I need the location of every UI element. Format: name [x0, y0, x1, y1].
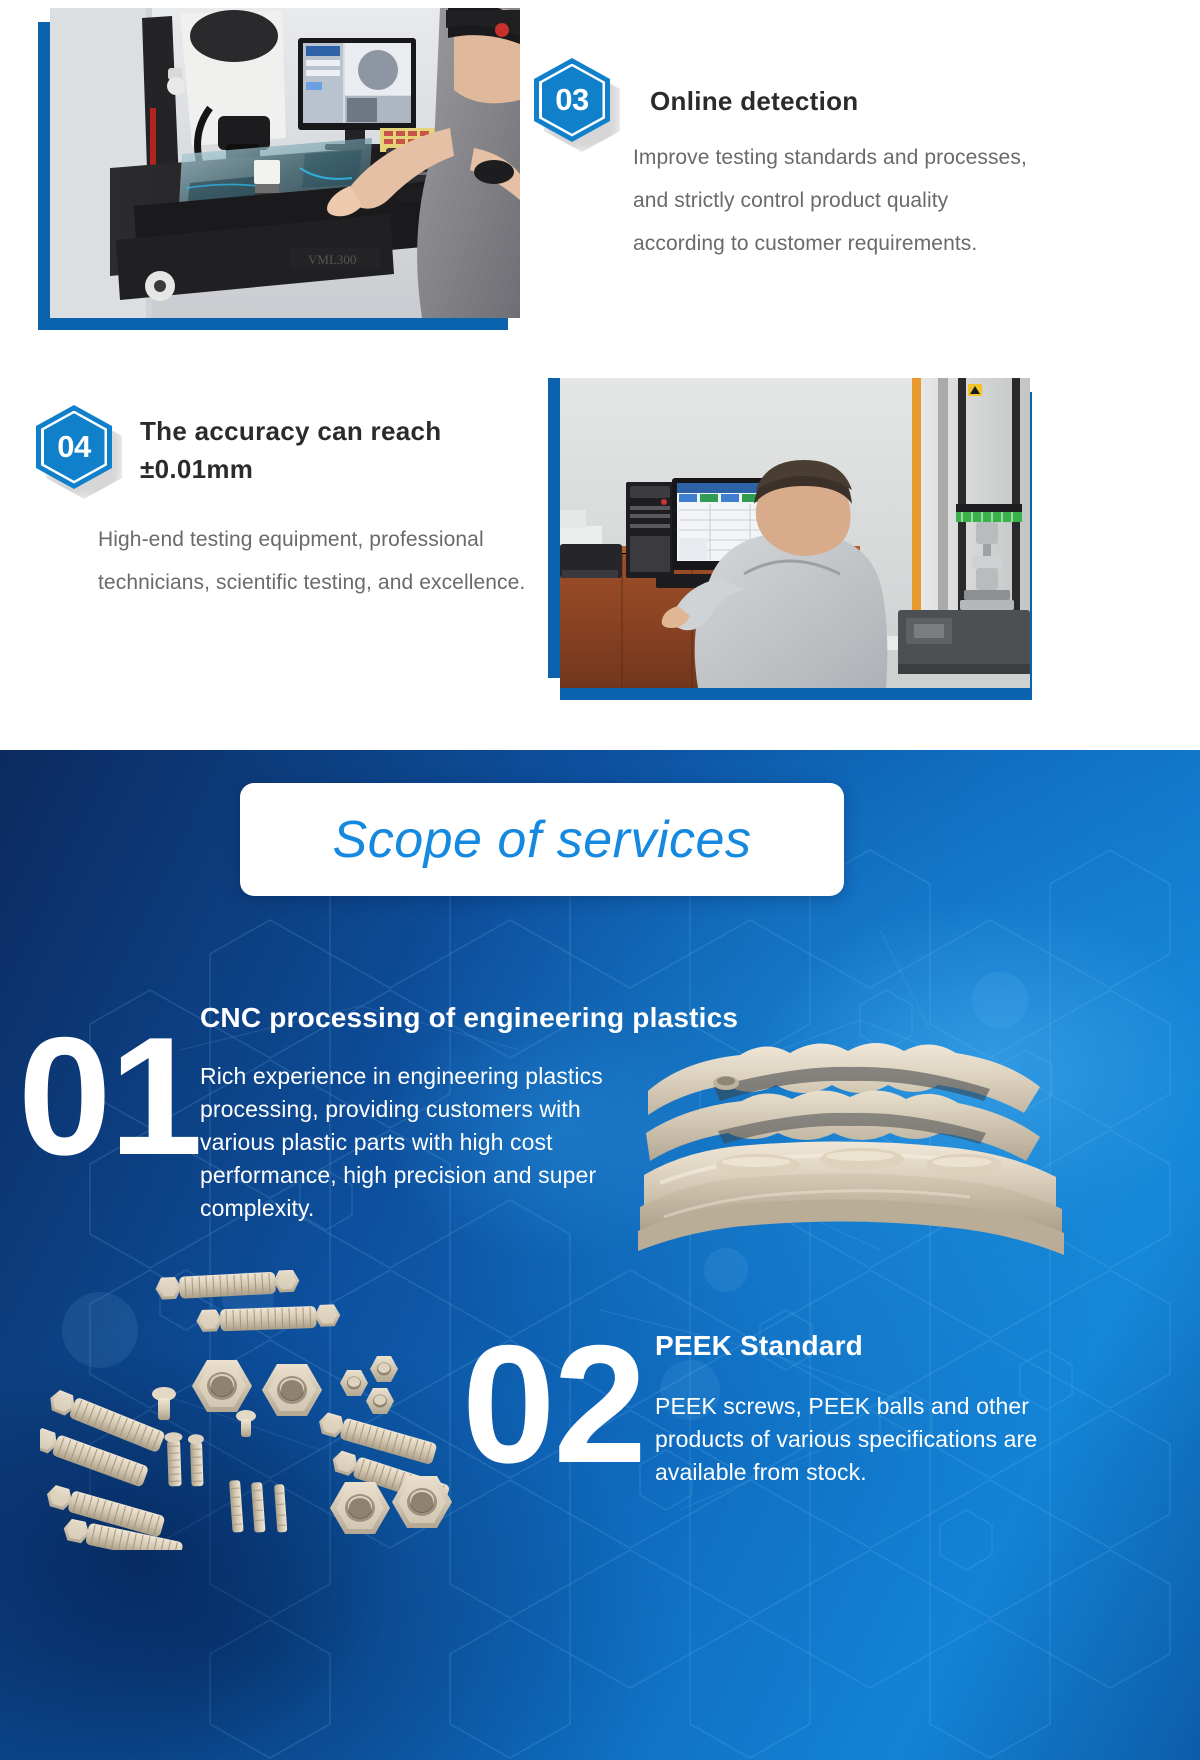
service-body-peek-standard: PEEK screws, PEEK balls and other produc…	[655, 1390, 1055, 1489]
service-number-02: 02	[462, 1320, 645, 1488]
feature-title-online-detection: Online detection	[650, 82, 1050, 120]
scope-title-card: Scope of services	[240, 783, 844, 896]
feature-body-accuracy: High-end testing equipment, professional…	[98, 518, 538, 604]
image-peek-machined-part	[630, 1025, 1070, 1275]
photo-online-detection: VML300	[50, 8, 520, 318]
badge-number: 04	[36, 405, 112, 489]
photo-frame-accuracy	[548, 378, 1032, 700]
svg-text:VML300: VML300	[308, 252, 356, 267]
service-body-cnc: Rich experience in engineering plastics …	[200, 1060, 630, 1225]
feature-title-accuracy: The accuracy can reach ±0.01mm	[140, 412, 500, 488]
feature-badge-03: 03	[534, 58, 610, 142]
feature-body-online-detection: Improve testing standards and processes,…	[633, 136, 1033, 265]
service-title-peek-standard: PEEK Standard	[655, 1330, 1075, 1362]
badge-number: 03	[534, 58, 610, 142]
scope-heading: Scope of services	[333, 810, 752, 870]
frame-accent-bottom	[38, 318, 508, 330]
optical-measuring-machine-illustration: VML300	[50, 8, 520, 318]
service-number-01: 01	[18, 1012, 201, 1180]
frame-accent-bottom	[560, 688, 1032, 700]
feature-badge-04: 04	[36, 405, 112, 489]
features-section: VML300	[0, 0, 1200, 750]
photo-frame-online-detection: VML300	[38, 8, 520, 330]
frame-accent-left	[548, 378, 560, 678]
frame-accent-left	[38, 22, 50, 330]
photo-tensile-testing	[560, 378, 1030, 688]
tensile-tester-illustration	[560, 378, 1030, 688]
image-peek-screws-nuts	[40, 1270, 480, 1550]
